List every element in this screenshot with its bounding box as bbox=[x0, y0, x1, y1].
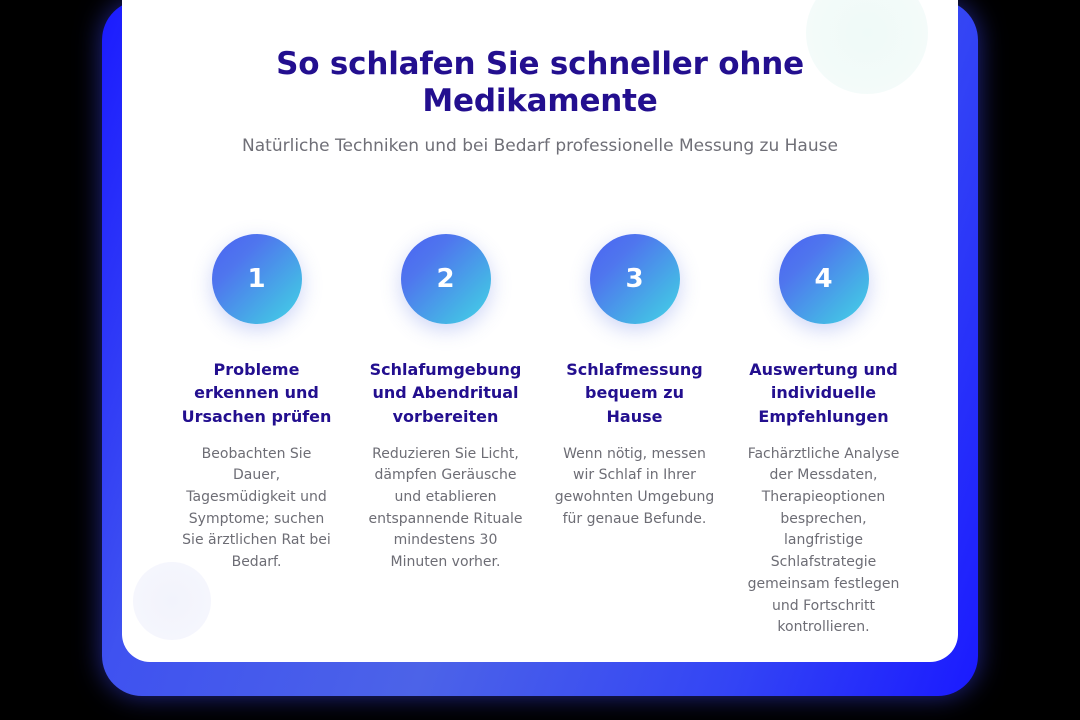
screenshot-root: So schlafen Sie schneller ohne Medikamen… bbox=[0, 0, 1080, 720]
step-title-4: Auswertung und individuelle Empfehlungen bbox=[744, 358, 904, 428]
step-item-2: 2 Schlafumgebung und Abendritual vorbere… bbox=[351, 234, 540, 574]
step-number-badge-1: 1 bbox=[212, 234, 302, 324]
step-description-1: Beobachten Sie Dauer, Tagesmüdigkeit und… bbox=[177, 444, 337, 574]
page-subtitle: Natürliche Techniken und bei Bedarf prof… bbox=[162, 136, 918, 156]
steps-row: 1 Probleme erkennen und Ursachen prüfen … bbox=[162, 234, 918, 639]
step-title-3: Schlafmessung bequem zu Hause bbox=[555, 358, 715, 428]
step-item-4: 4 Auswertung und individuelle Empfehlung… bbox=[729, 234, 918, 639]
step-description-4: Fachärztliche Analyse der Messdaten, The… bbox=[744, 444, 904, 639]
step-title-1: Probleme erkennen und Ursachen prüfen bbox=[177, 358, 337, 428]
page-title: So schlafen Sie schneller ohne Medikamen… bbox=[162, 46, 918, 119]
card-content: So schlafen Sie schneller ohne Medikamen… bbox=[122, 0, 958, 662]
step-number-badge-3: 3 bbox=[590, 234, 680, 324]
step-description-2: Reduzieren Sie Licht, dämpfen Geräusche … bbox=[366, 444, 526, 574]
step-description-3: Wenn nötig, messen wir Schlaf in Ihrer g… bbox=[555, 444, 715, 531]
step-title-2: Schlafumgebung und Abendritual vorbereit… bbox=[366, 358, 526, 428]
step-number-badge-4: 4 bbox=[779, 234, 869, 324]
content-card: So schlafen Sie schneller ohne Medikamen… bbox=[122, 0, 958, 662]
step-item-1: 1 Probleme erkennen und Ursachen prüfen … bbox=[162, 234, 351, 574]
step-number-badge-2: 2 bbox=[401, 234, 491, 324]
step-item-3: 3 Schlafmessung bequem zu Hause Wenn nöt… bbox=[540, 234, 729, 530]
